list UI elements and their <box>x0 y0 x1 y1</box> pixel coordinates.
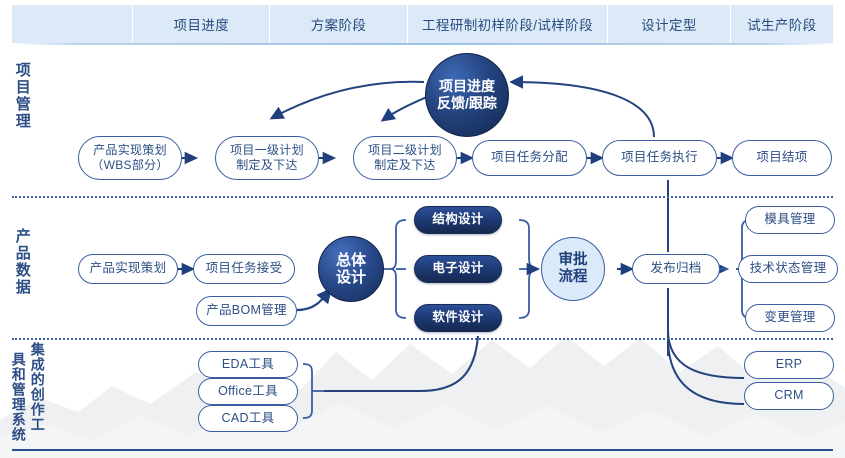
circle-overall-design[interactable]: 总体 设计 <box>318 236 384 302</box>
separator-product-tools <box>12 338 833 340</box>
node-mold-management[interactable]: 模具管理 <box>745 206 835 234</box>
node-erp[interactable]: ERP <box>744 351 834 379</box>
phase-col-trial-production[interactable]: 试生产阶段 <box>731 5 833 43</box>
rail-label-tools-left-column: 具和管理系统 <box>11 352 26 442</box>
node-product-realization-plan[interactable]: 产品实现策划 （WBS部分） <box>78 136 182 180</box>
node-pd-task-accept[interactable]: 项目任务接受 <box>193 254 295 284</box>
rail-label-tools-right-column: 集成的创作工 <box>30 342 45 432</box>
node-pd-bom-management[interactable]: 产品BOM管理 <box>196 296 297 326</box>
phase-col-progress[interactable]: 项目进度 <box>133 5 270 43</box>
node-task-execution[interactable]: 项目任务执行 <box>602 140 717 176</box>
rail-label-project-management: 项目管理 <box>14 62 30 130</box>
phase-col-engineering[interactable]: 工程研制初样阶段/试样阶段 <box>408 5 609 43</box>
phase-col-blank <box>12 5 133 43</box>
node-release-archive[interactable]: 发布归档 <box>632 254 720 284</box>
node-software-design[interactable]: 软件设计 <box>414 304 502 332</box>
node-office-tool[interactable]: Office工具 <box>198 378 298 405</box>
node-change-management[interactable]: 变更管理 <box>745 304 835 332</box>
rail-label-product-data: 产品数据 <box>14 228 30 296</box>
node-electronic-design[interactable]: 电子设计 <box>414 255 502 283</box>
circle-progress-feedback[interactable]: 项目进度 反馈/跟踪 <box>425 53 509 137</box>
separator-project-product <box>12 196 833 198</box>
phase-col-design-finalize[interactable]: 设计定型 <box>608 5 730 43</box>
phase-col-scheme[interactable]: 方案阶段 <box>270 5 407 43</box>
phase-header-bar: 项目进度 方案阶段 工程研制初样阶段/试样阶段 设计定型 试生产阶段 <box>12 5 833 43</box>
node-eda-tool[interactable]: EDA工具 <box>198 351 298 378</box>
node-project-closure[interactable]: 项目结项 <box>732 140 832 176</box>
node-tech-state-management[interactable]: 技术状态管理 <box>738 255 838 283</box>
node-structural-design[interactable]: 结构设计 <box>414 206 502 234</box>
diagram-canvas: 项目进度 方案阶段 工程研制初样阶段/试样阶段 设计定型 试生产阶段 项目管理 … <box>0 0 845 458</box>
bottom-rule <box>12 449 833 451</box>
node-pd-product-realization-plan[interactable]: 产品实现策划 <box>78 254 178 284</box>
node-cad-tool[interactable]: CAD工具 <box>198 405 298 432</box>
circle-approval-process[interactable]: 审批 流程 <box>541 237 605 301</box>
node-level2-plan[interactable]: 项目二级计划 制定及下达 <box>353 136 457 180</box>
node-task-allocation[interactable]: 项目任务分配 <box>472 140 587 176</box>
node-level1-plan[interactable]: 项目一级计划 制定及下达 <box>215 136 319 180</box>
node-crm[interactable]: CRM <box>744 382 834 410</box>
phase-header-underline <box>12 43 833 45</box>
